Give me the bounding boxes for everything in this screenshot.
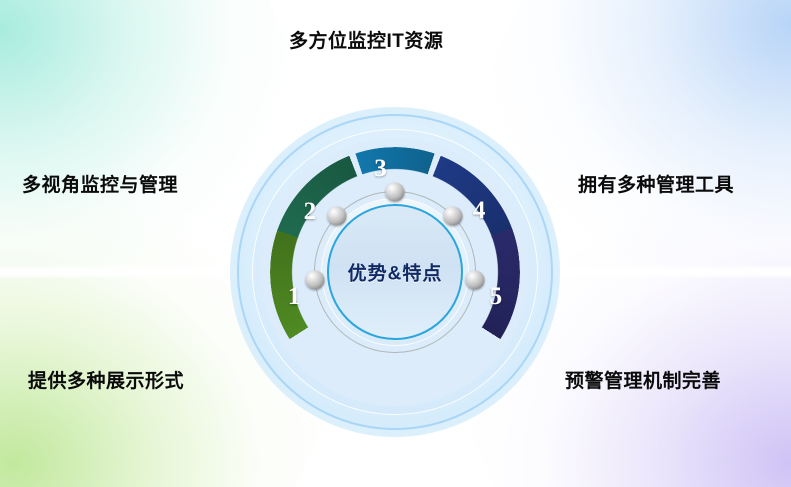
caption-left-upper: 多视角监控与管理 (22, 170, 178, 197)
bead-marker-2[interactable] (328, 207, 347, 226)
caption-right-upper: 拥有多种管理工具 (578, 170, 734, 197)
caption-top: 多方位监控IT资源 (289, 26, 443, 53)
center-label: 优势&特点 (348, 259, 443, 286)
caption-left-lower: 提供多种展示形式 (28, 366, 184, 393)
diagram-canvas: 优势&特点 12345 多方位监控IT资源 多视角监控与管理 提供多种展示形式 … (0, 0, 791, 487)
bead-marker-5[interactable] (465, 271, 484, 290)
caption-right-lower: 预警管理机制完善 (565, 366, 721, 393)
segment-number-3: 3 (374, 155, 387, 183)
bead-marker-4[interactable] (443, 207, 462, 226)
segment-number-5: 5 (490, 283, 503, 311)
bead-marker-3[interactable] (386, 183, 405, 202)
core-disc: 优势&特点 (327, 204, 463, 340)
segment-number-1: 1 (288, 283, 301, 311)
segment-number-2: 2 (304, 198, 317, 226)
segment-number-4: 4 (473, 197, 486, 225)
bead-marker-1[interactable] (306, 271, 325, 290)
